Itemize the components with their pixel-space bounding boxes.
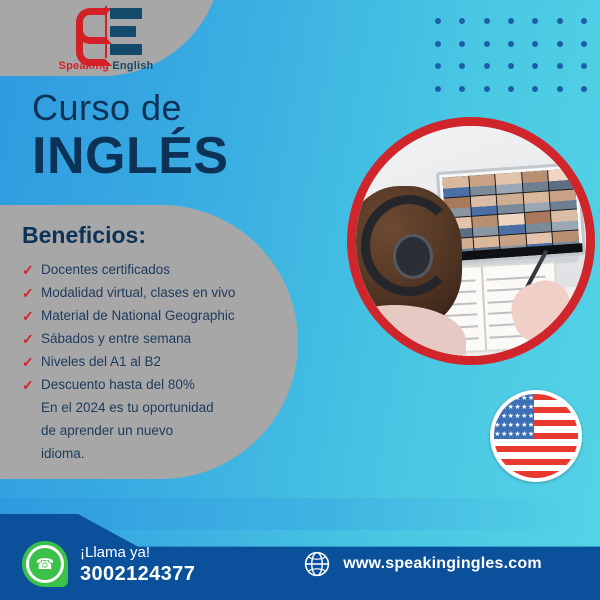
flag-stripe bbox=[494, 471, 578, 477]
decoration-dot bbox=[508, 41, 514, 47]
flag-star: ★ bbox=[508, 431, 514, 438]
flag-star: ★ bbox=[528, 422, 534, 429]
website-url[interactable]: www.speakingingles.com bbox=[343, 555, 542, 573]
decoration-dot bbox=[435, 41, 441, 47]
decoration-dot bbox=[532, 18, 538, 24]
flag-star: ★ bbox=[494, 413, 500, 420]
decoration-dot bbox=[484, 63, 490, 69]
check-icon: ✓ bbox=[22, 328, 34, 350]
call-label: ¡Llama ya! bbox=[80, 543, 195, 562]
flag-star: ★ bbox=[514, 422, 520, 429]
decoration-dot bbox=[581, 86, 587, 92]
benefit-item: ✓de aprender un nuevo bbox=[22, 420, 292, 442]
decoration-dot bbox=[459, 63, 465, 69]
check-icon: ✓ bbox=[22, 374, 34, 396]
participant-tile bbox=[469, 174, 496, 195]
decoration-dot bbox=[557, 41, 563, 47]
benefit-item-label: idioma. bbox=[41, 443, 85, 465]
benefit-item-label: Material de National Geographic bbox=[41, 305, 235, 327]
participant-tile bbox=[497, 193, 524, 214]
decoration-dot bbox=[484, 18, 490, 24]
decoration-dot bbox=[435, 63, 441, 69]
flag-star: ★ bbox=[494, 404, 500, 411]
call-block[interactable]: ☎ ¡Llama ya! 3002124377 bbox=[22, 541, 195, 587]
benefit-item-label: Docentes certificados bbox=[41, 259, 170, 281]
flag-star: ★ bbox=[508, 404, 514, 411]
globe-icon bbox=[303, 550, 331, 578]
benefit-item: ✓Descuento hasta del 80% bbox=[22, 374, 292, 396]
decoration-dot bbox=[484, 86, 490, 92]
participant-tile bbox=[523, 191, 550, 212]
participant-tile bbox=[442, 176, 469, 197]
flag-star: ★ bbox=[508, 395, 514, 402]
flag-star: ★ bbox=[521, 431, 527, 438]
flag-star: ★ bbox=[514, 413, 520, 420]
benefit-item: ✓idioma. bbox=[22, 443, 292, 465]
participant-tile bbox=[470, 195, 497, 216]
flag-star: ★ bbox=[494, 395, 500, 402]
participant-tile bbox=[551, 210, 578, 231]
decoration-dot bbox=[557, 63, 563, 69]
flag-star: ★ bbox=[501, 413, 507, 420]
participant-tile bbox=[498, 214, 525, 235]
check-icon: ✓ bbox=[22, 282, 34, 304]
flag-star: ★ bbox=[508, 413, 514, 420]
flag-star: ★ bbox=[501, 404, 507, 411]
benefit-item: ✓Niveles del A1 al B2 bbox=[22, 351, 292, 373]
decoration-dot bbox=[435, 86, 441, 92]
benefit-item: ✓En el 2024 es tu oportunidad bbox=[22, 397, 292, 419]
phone-number[interactable]: 3002124377 bbox=[80, 562, 195, 586]
benefits-section: Beneficios: ✓Docentes certificados✓Modal… bbox=[22, 222, 292, 466]
decoration-dot bbox=[581, 63, 587, 69]
flag-star: ★ bbox=[501, 395, 507, 402]
flag-star: ★ bbox=[521, 395, 527, 402]
flag-star: ★ bbox=[514, 404, 520, 411]
check-icon: ✓ bbox=[22, 351, 34, 373]
page-title: Curso de INGLÉS bbox=[32, 88, 229, 184]
flag-star: ★ bbox=[521, 404, 527, 411]
participant-tile bbox=[550, 189, 577, 210]
flag-star: ★ bbox=[508, 422, 514, 429]
brand-word-english: English bbox=[112, 60, 153, 72]
benefit-item-label: En el 2024 es tu oportunidad bbox=[41, 397, 214, 419]
flag-star: ★ bbox=[528, 404, 534, 411]
benefit-item-label: Descuento hasta del 80% bbox=[41, 374, 195, 396]
decoration-dot bbox=[532, 63, 538, 69]
flag-canton: ★★★★★★★★★★★★★★★★★★★★★★★★★★★★★★ bbox=[494, 394, 534, 439]
whatsapp-icon[interactable]: ☎ bbox=[22, 541, 68, 587]
flag-star: ★ bbox=[528, 413, 534, 420]
brand-logo: Speaking English bbox=[36, 6, 176, 78]
check-icon: ✓ bbox=[22, 305, 34, 327]
decoration-dot bbox=[435, 18, 441, 24]
flag-star: ★ bbox=[494, 431, 500, 438]
flag-star: ★ bbox=[514, 395, 520, 402]
footer-contact-row: ☎ ¡Llama ya! 3002124377 www.speakingingl… bbox=[0, 528, 600, 600]
student-video-call-photo bbox=[356, 126, 586, 356]
flag-star: ★ bbox=[514, 431, 520, 438]
decoration-dot bbox=[508, 18, 514, 24]
call-text: ¡Llama ya! 3002124377 bbox=[80, 543, 195, 586]
flag-star: ★ bbox=[528, 431, 534, 438]
participant-tile bbox=[495, 173, 522, 194]
se-monogram-icon bbox=[58, 6, 154, 58]
benefit-item-label: Niveles del A1 al B2 bbox=[41, 351, 161, 373]
decoration-dot bbox=[557, 18, 563, 24]
decoration-dot bbox=[557, 86, 563, 92]
participant-tile bbox=[548, 169, 575, 190]
benefits-list: ✓Docentes certificados✓Modalidad virtual… bbox=[22, 259, 292, 465]
check-icon: ✓ bbox=[22, 259, 34, 281]
decoration-dot bbox=[532, 86, 538, 92]
flag-star: ★ bbox=[521, 422, 527, 429]
flag-star: ★ bbox=[528, 395, 534, 402]
decoration-dot bbox=[532, 41, 538, 47]
decoration-dot bbox=[581, 41, 587, 47]
decoration-dot bbox=[508, 86, 514, 92]
headline-line-2: INGLÉS bbox=[32, 128, 229, 184]
dot-grid-decoration bbox=[426, 10, 596, 100]
benefit-item-label: Sábados y entre semana bbox=[41, 328, 191, 350]
decoration-dot bbox=[459, 86, 465, 92]
flag-star: ★ bbox=[494, 422, 500, 429]
decoration-dot bbox=[581, 18, 587, 24]
headline-line-1: Curso de bbox=[32, 88, 229, 128]
benefit-item-label: Modalidad virtual, clases en vivo bbox=[41, 282, 235, 304]
benefits-title: Beneficios: bbox=[22, 222, 292, 249]
flag-star: ★ bbox=[521, 413, 527, 420]
decoration-dot bbox=[484, 41, 490, 47]
benefit-item: ✓Sábados y entre semana bbox=[22, 328, 292, 350]
flyer-canvas: Speaking English Curso de INGLÉS Benefic… bbox=[0, 0, 600, 600]
benefit-item: ✓Material de National Geographic bbox=[22, 305, 292, 327]
decoration-dot bbox=[459, 18, 465, 24]
usa-flag-badge: ★★★★★★★★★★★★★★★★★★★★★★★★★★★★★★ bbox=[490, 390, 582, 482]
decoration-dot bbox=[508, 63, 514, 69]
participant-tile bbox=[525, 212, 552, 233]
decoration-dot bbox=[459, 41, 465, 47]
benefit-item: ✓Modalidad virtual, clases en vivo bbox=[22, 282, 292, 304]
participant-tile bbox=[472, 216, 499, 237]
photo-ring bbox=[347, 117, 595, 365]
benefit-item-label: de aprender un nuevo bbox=[41, 420, 173, 442]
participant-tile bbox=[522, 171, 549, 192]
benefit-item: ✓Docentes certificados bbox=[22, 259, 292, 281]
flag-star: ★ bbox=[501, 422, 507, 429]
website-block[interactable]: www.speakingingles.com bbox=[303, 550, 542, 578]
flag-star: ★ bbox=[501, 431, 507, 438]
